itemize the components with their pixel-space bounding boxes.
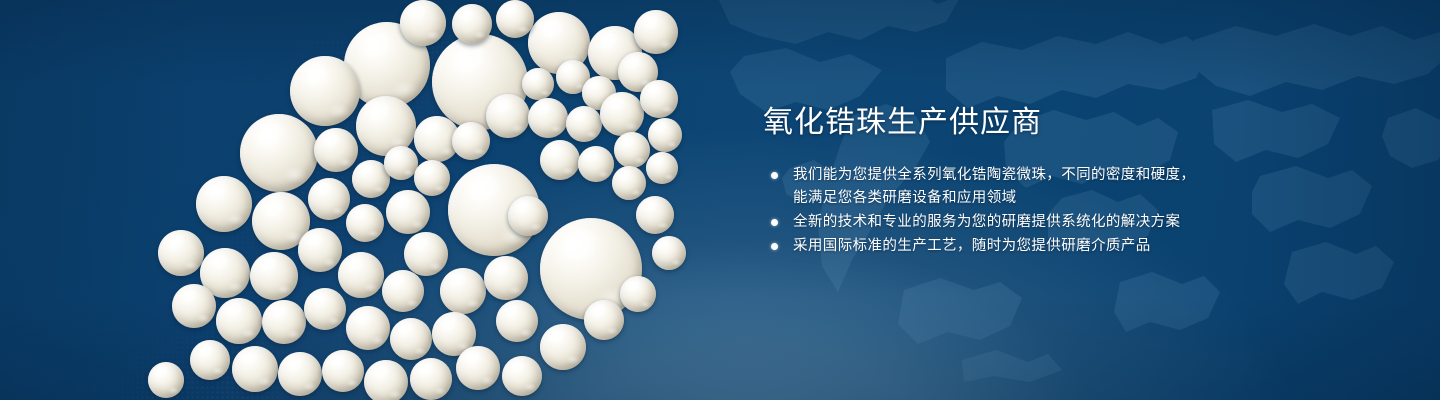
page-title: 氧化锆珠生产供应商 bbox=[763, 104, 1233, 142]
bullet-text-line: 全新的技术和专业的服务为您的研磨提供系统化的解决方案 bbox=[793, 211, 1233, 234]
bullet-text-line: 能满足您各类研磨设备和应用领域 bbox=[793, 187, 1233, 210]
hero-banner: 氧化锆珠生产供应商 我们能为您提供全系列氧化锆陶瓷微珠，不同的密度和硬度， 能满… bbox=[0, 0, 1440, 400]
list-item: 全新的技术和专业的服务为您的研磨提供系统化的解决方案 bbox=[763, 211, 1233, 234]
bullet-text-line: 我们能为您提供全系列氧化锆陶瓷微珠，不同的密度和硬度， bbox=[793, 164, 1233, 187]
bullet-text-line: 采用国际标准的生产工艺，随时为您提供研磨介质产品 bbox=[793, 235, 1233, 258]
banner-copy: 氧化锆珠生产供应商 我们能为您提供全系列氧化锆陶瓷微珠，不同的密度和硬度， 能满… bbox=[763, 104, 1233, 259]
bullet-dot-icon bbox=[771, 172, 778, 179]
list-item: 采用国际标准的生产工艺，随时为您提供研磨介质产品 bbox=[763, 235, 1233, 258]
bullet-dot-icon bbox=[771, 219, 778, 226]
bullet-dot-icon bbox=[771, 243, 778, 250]
feature-list: 我们能为您提供全系列氧化锆陶瓷微珠，不同的密度和硬度， 能满足您各类研磨设备和应… bbox=[763, 164, 1233, 258]
list-item: 我们能为您提供全系列氧化锆陶瓷微珠，不同的密度和硬度， 能满足您各类研磨设备和应… bbox=[763, 164, 1233, 210]
